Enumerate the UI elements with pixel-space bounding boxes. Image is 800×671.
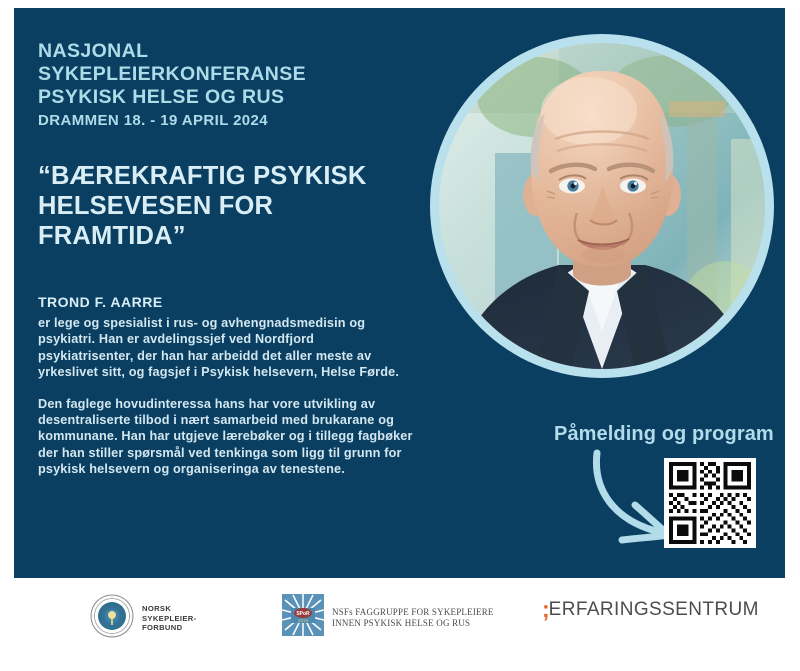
- nsf-seal-icon: [90, 594, 134, 643]
- logo-label: NSFs FAGGRUPPE FOR SYKEPLEIERE INNEN PSY…: [332, 607, 494, 629]
- poster-panel: NASJONAL SYKEPLEIERKONFERANSE PSYKISK HE…: [14, 8, 785, 578]
- logo-erfaringssentrum: ; ERFARINGSSENTRUM: [542, 598, 759, 621]
- svg-text:SPoR: SPoR: [296, 611, 310, 617]
- left-content-column: NASJONAL SYKEPLEIERKONFERANSE PSYKISK HE…: [38, 40, 428, 478]
- logo-label: ERFARINGSSENTRUM: [549, 599, 759, 621]
- speaker-bio-paragraph-1: er lege og spesialist i rus- og avhengna…: [38, 315, 413, 381]
- headline-line-2: HELSEVESEN FOR: [38, 191, 428, 221]
- logo-nsf-faggruppe: SPoR 2016 NSFs FAGGRUPPE FOR SYKEPLEIERE…: [282, 594, 494, 641]
- portrait-ring: [430, 34, 774, 378]
- logo-norsk-sykepleierforbund: NORSK SYKEPLEIER- FORBUND: [90, 594, 197, 643]
- footer-logos: NORSK SYKEPLEIER- FORBUND SPoR 2016 NSFs…: [14, 586, 785, 662]
- qr-code-icon[interactable]: [664, 458, 756, 548]
- conference-kicker: NASJONAL SYKEPLEIERKONFERANSE PSYKISK HE…: [38, 40, 428, 132]
- poster-root: NASJONAL SYKEPLEIERKONFERANSE PSYKISK HE…: [0, 0, 800, 671]
- kicker-line-2: SYKEPLEIERKONFERANSE: [38, 63, 428, 86]
- cta-label: Påmelding og program: [554, 423, 774, 446]
- logo-label: NORSK SYKEPLEIER- FORBUND: [142, 604, 197, 633]
- kicker-date-line: DRAMMEN 18. - 19 APRIL 2024: [38, 110, 428, 132]
- svg-text:2016: 2016: [298, 618, 309, 623]
- headline-line-1: “BÆREKRAFTIG PSYKISK: [38, 161, 428, 191]
- portrait-photo: [439, 43, 765, 369]
- speaker-name: TROND F. AARRE: [38, 293, 428, 311]
- kicker-line-1: NASJONAL: [38, 40, 428, 63]
- kicker-line-3: PSYKISK HELSE OG RUS: [38, 86, 428, 109]
- portrait-illustration: [439, 43, 765, 369]
- sunburst-badge-icon: SPoR 2016: [282, 594, 324, 641]
- headline-line-3: FRAMTIDA”: [38, 221, 428, 251]
- speaker-bio-paragraph-2: Den faglege hovudinteressa hans har vore…: [38, 396, 413, 478]
- poster-headline: “BÆREKRAFTIG PSYKISK HELSEVESEN FOR FRAM…: [38, 161, 428, 251]
